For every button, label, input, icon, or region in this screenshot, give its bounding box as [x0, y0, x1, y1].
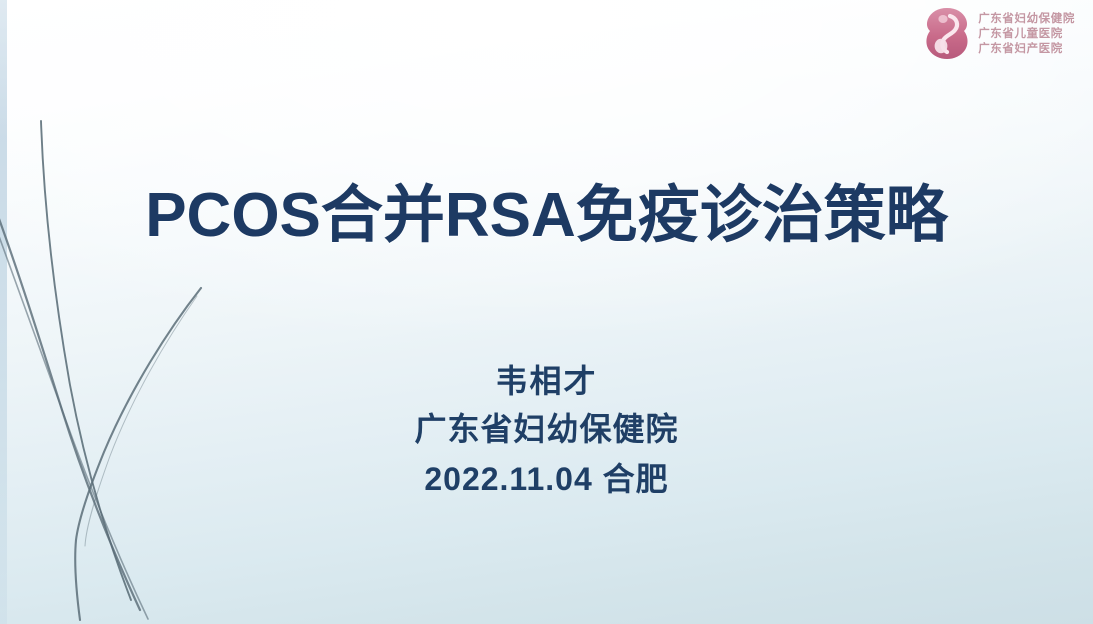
logo-line-2: 广东省儿童医院 [978, 28, 1075, 41]
hospital-logo-text: 广东省妇幼保健院 广东省儿童医院 广东省妇产医院 [978, 11, 1075, 56]
presenter-block: 韦相才 广东省妇幼保健院 2022.11.04 合肥 [0, 358, 1093, 504]
presentation-date-location: 2022.11.04 合肥 [0, 454, 1093, 504]
hospital-logo: 广东省妇幼保健院 广东省儿童医院 广东省妇产医院 [923, 6, 1075, 60]
presenter-name: 韦相才 [0, 358, 1093, 404]
hospital-emblem-icon [923, 6, 971, 60]
grass-blades-decoration [0, 0, 300, 624]
slide-title: PCOS合并RSA免疫诊治策略 [0, 180, 1093, 252]
logo-line-3: 广东省妇产医院 [978, 43, 1075, 56]
left-edge-strip [0, 0, 7, 624]
presenter-organization: 广东省妇幼保健院 [0, 404, 1093, 454]
logo-line-1: 广东省妇幼保健院 [978, 13, 1075, 26]
presentation-slide: 广东省妇幼保健院 广东省儿童医院 广东省妇产医院 PCOS合并RSA免疫诊治策略… [0, 0, 1093, 624]
